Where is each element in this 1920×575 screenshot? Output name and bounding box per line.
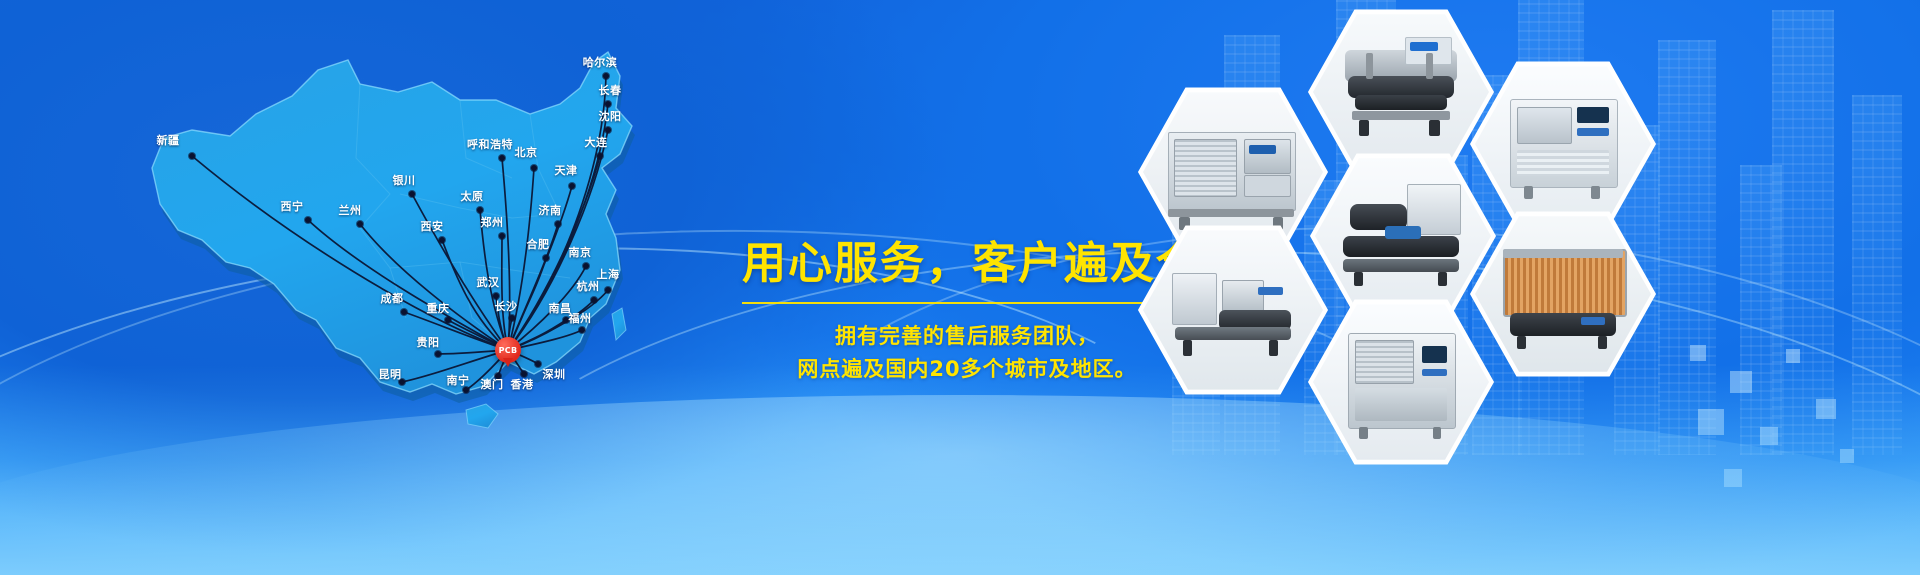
- city-dot-10[interactable]: [605, 101, 611, 107]
- product-hex-open-type-compressor-unit[interactable]: 开启式压缩机组: [1138, 222, 1328, 398]
- product-hex-condenser-evaporator-unit[interactable]: 冷凝蒸发机组: [1470, 208, 1656, 380]
- hub-pin-tail: [503, 358, 513, 367]
- city-label-3: 银川: [393, 172, 416, 188]
- product-hex-cabinet-water-chiller[interactable]: 柜式工业冷水机: [1308, 296, 1494, 468]
- city-dot-17[interactable]: [605, 287, 611, 293]
- map-hainan-island: [466, 404, 498, 428]
- city-dot-13[interactable]: [499, 233, 505, 239]
- city-label-20: 成都: [381, 290, 404, 306]
- city-label-19: 长沙: [495, 298, 518, 314]
- map-taiwan-island: [612, 308, 626, 340]
- city-label-5: 呼和浩特: [467, 136, 513, 152]
- city-dot-11[interactable]: [603, 73, 609, 79]
- map-svg: [60, 18, 740, 458]
- city-dot-15[interactable]: [543, 255, 549, 261]
- city-label-25: 贵阳: [417, 334, 440, 350]
- banner-subline-2: 网点遍及国内20多个城市及地区。: [742, 353, 1192, 386]
- city-dot-14[interactable]: [555, 221, 561, 227]
- city-label-7: 天津: [555, 162, 578, 178]
- city-label-8: 大连: [585, 134, 608, 150]
- city-label-24: 福州: [569, 310, 592, 326]
- city-label-0: 新疆: [157, 132, 180, 148]
- city-dot-6[interactable]: [531, 165, 537, 171]
- city-label-4: 太原: [461, 188, 484, 204]
- city-dot-5[interactable]: [499, 155, 505, 161]
- city-label-18: 武汉: [477, 274, 500, 290]
- banner-headline: 用心服务，客户遍及全国: [742, 240, 1192, 288]
- city-dot-7[interactable]: [569, 183, 575, 189]
- city-dot-1[interactable]: [305, 217, 311, 223]
- city-dot-0[interactable]: [189, 153, 195, 159]
- city-dot-19[interactable]: [509, 315, 515, 321]
- city-dot-24[interactable]: [579, 327, 585, 333]
- city-dot-4[interactable]: [477, 207, 483, 213]
- city-label-13: 郑州: [481, 214, 504, 230]
- city-dot-3[interactable]: [409, 191, 415, 197]
- city-dot-12[interactable]: [439, 237, 445, 243]
- city-label-12: 西安: [421, 218, 444, 234]
- product-photo-cluster: 水冷螺杆式冷水机组 工业风冷式冷水机: [1150, 0, 1920, 575]
- city-dot-30[interactable]: [535, 361, 541, 367]
- city-label-6: 北京: [515, 144, 538, 160]
- product-hex-low-temp-screw-unit[interactable]: 低温螺杆机组: [1310, 150, 1496, 322]
- hub-marker-guangzhou[interactable]: PCB: [495, 337, 521, 363]
- city-label-29: 香港: [511, 376, 534, 392]
- city-dot-25[interactable]: [435, 351, 441, 357]
- banner-copy-block: 用心服务，客户遍及全国 拥有完善的售后服务团队， 网点遍及国内20多个城市及地区…: [742, 240, 1192, 385]
- city-label-2: 兰州: [339, 202, 362, 218]
- product-hex-industrial-air-chiller[interactable]: 工业风冷式冷水机: [1470, 58, 1656, 230]
- city-dot-22[interactable]: [445, 317, 451, 323]
- city-label-21: 杭州: [577, 278, 600, 294]
- city-label-9: 沈阳: [599, 108, 622, 124]
- city-label-27: 南宁: [447, 372, 470, 388]
- city-dot-16[interactable]: [583, 263, 589, 269]
- city-label-10: 长春: [599, 82, 622, 98]
- city-dot-8[interactable]: [597, 153, 603, 159]
- banner-subline-1: 拥有完善的售后服务团队，: [742, 320, 1192, 353]
- city-dot-20[interactable]: [401, 309, 407, 315]
- city-label-15: 合肥: [527, 236, 550, 252]
- city-label-11: 哈尔滨: [583, 54, 618, 70]
- city-label-16: 南京: [569, 244, 592, 260]
- city-label-30: 深圳: [543, 366, 566, 382]
- city-label-26: 昆明: [379, 366, 402, 382]
- city-dot-2[interactable]: [357, 221, 363, 227]
- hub-pin-label: PCB: [499, 346, 518, 355]
- city-label-22: 重庆: [427, 300, 450, 316]
- city-label-14: 济南: [539, 202, 562, 218]
- city-label-17: 上海: [597, 266, 620, 282]
- city-label-28: 澳门: [481, 376, 504, 392]
- china-service-network-map: 新疆西宁兰州银川太原呼和浩特北京天津大连沈阳长春哈尔滨西安郑州济南合肥南京上海武…: [60, 18, 740, 458]
- city-label-1: 西宁: [281, 198, 304, 214]
- service-network-banner: 新疆西宁兰州银川太原呼和浩特北京天津大连沈阳长春哈尔滨西安郑州济南合肥南京上海武…: [0, 0, 1920, 575]
- headline-divider: [742, 302, 1192, 304]
- city-dot-21[interactable]: [591, 297, 597, 303]
- city-dot-9[interactable]: [605, 127, 611, 133]
- product-hex-water-cooled-screw-chiller[interactable]: 水冷螺杆式冷水机组: [1308, 6, 1494, 178]
